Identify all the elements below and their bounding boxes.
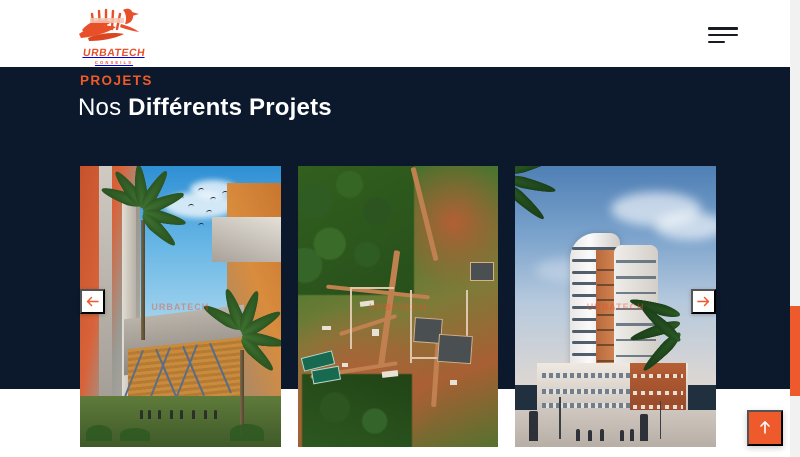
project-image-1 (80, 166, 281, 447)
logo-wordmark: URBATECH (82, 48, 146, 59)
arrow-left-icon (86, 296, 99, 307)
carousel-next-button[interactable] (691, 289, 716, 314)
projects-carousel[interactable]: URBATECH (80, 166, 716, 447)
site-header: URBATECH CONSEILS (0, 0, 790, 67)
project-image-2 (298, 166, 499, 447)
hamburger-icon[interactable] (708, 27, 738, 43)
scroll-to-top-button[interactable] (747, 410, 783, 446)
project-card[interactable]: URBATECH (80, 166, 281, 447)
hamburger-line-1 (708, 27, 738, 30)
page-scrollbar-thumb[interactable] (790, 306, 800, 396)
hamburger-line-2 (708, 34, 738, 37)
site-logo[interactable]: URBATECH CONSEILS (76, 4, 152, 64)
project-card[interactable]: URBATECH (515, 166, 716, 447)
section-eyebrow: PROJETS (80, 73, 153, 88)
page-title-bold: Différents Projets (128, 94, 332, 121)
project-card[interactable]: URBATECH (298, 166, 499, 447)
urbatech-bird-logo (76, 4, 152, 48)
carousel-prev-button[interactable] (80, 289, 105, 314)
page-title-light: Nos (78, 94, 128, 121)
hamburger-line-3 (708, 41, 725, 44)
logo-tagline: CONSEILS (95, 61, 133, 65)
page-title: Nos Différents Projets (78, 94, 332, 122)
project-image-3 (515, 166, 716, 447)
arrow-right-icon (697, 296, 710, 307)
arrow-up-icon (759, 420, 771, 437)
